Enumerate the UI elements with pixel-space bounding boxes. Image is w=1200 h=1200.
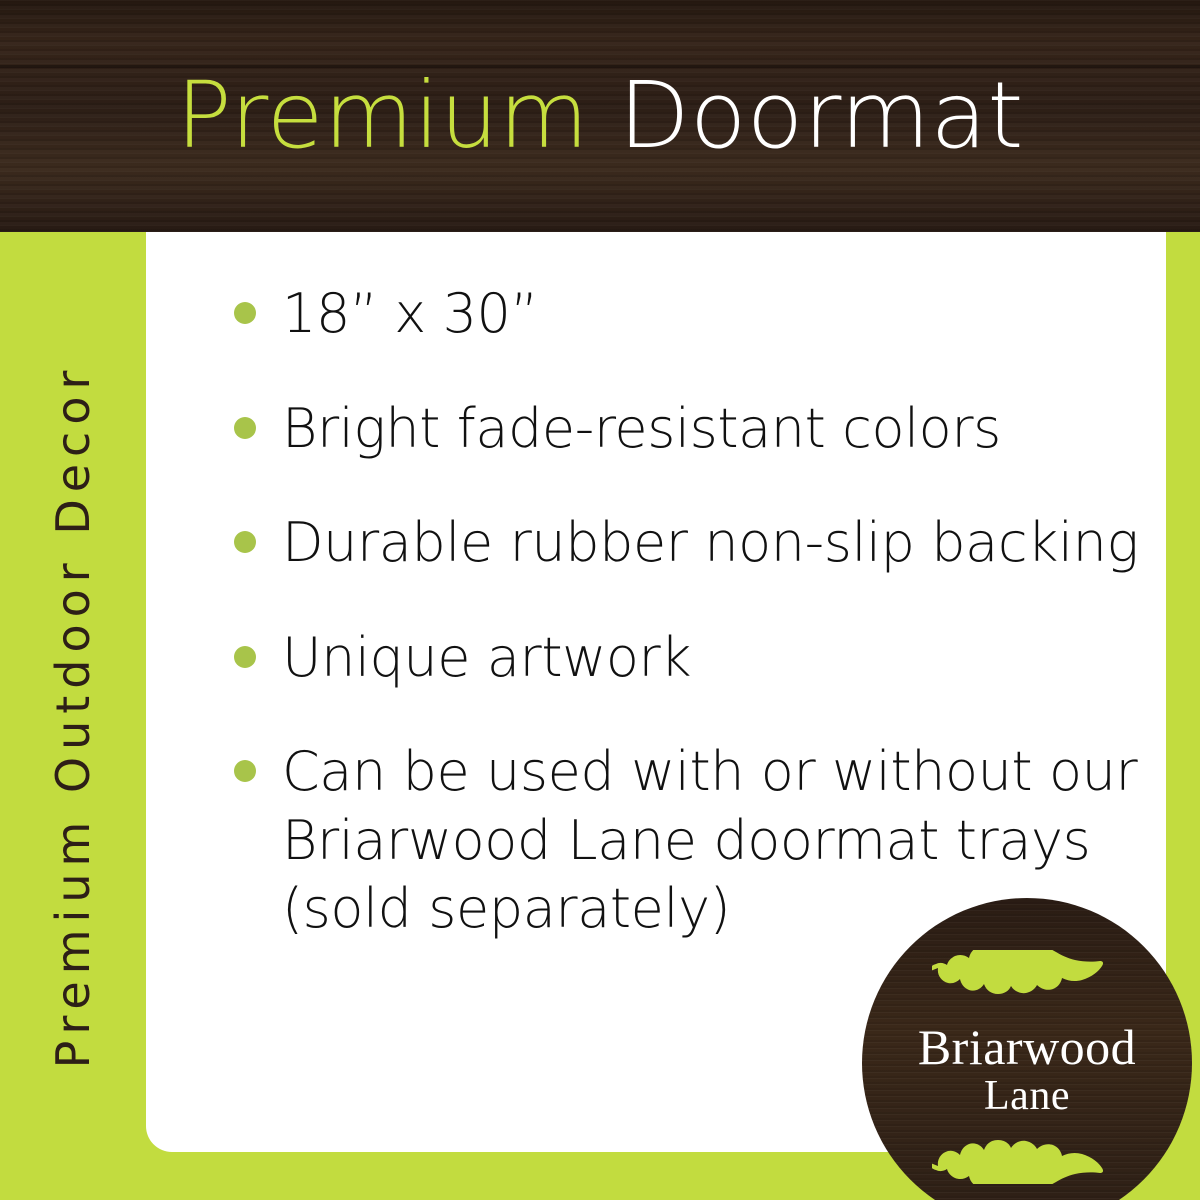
oak-leaf-icon — [932, 950, 1122, 1012]
bullet-dot-icon — [234, 302, 256, 324]
list-item-text: Bright fade-resistant colors — [282, 397, 1001, 460]
list-item-text: Unique artwork — [282, 626, 691, 689]
page-title-main: Doormat — [589, 62, 1024, 169]
bullet-dot-icon — [234, 646, 256, 668]
side-rail: Premium Outdoor Decor — [0, 232, 146, 1200]
brand-subname: Lane — [862, 1075, 1192, 1118]
brand-wordmark: Briarwood Lane — [862, 1022, 1192, 1118]
list-item-text: 18” x 30” — [282, 282, 538, 345]
bullet-dot-icon — [234, 760, 256, 782]
brand-name: Briarwood — [862, 1022, 1192, 1073]
oak-leaf-icon — [932, 1122, 1122, 1184]
list-item: 18” x 30” — [226, 280, 1146, 349]
product-feature-poster: Premium Doormat Premium Outdoor Decor 18… — [0, 0, 1200, 1200]
page-title-accent: Premium — [176, 62, 589, 169]
list-item: Bright fade-resistant colors — [226, 395, 1146, 464]
feature-list: 18” x 30” Bright fade-resistant colors D… — [226, 280, 1146, 944]
list-item: Unique artwork — [226, 624, 1146, 693]
bullet-dot-icon — [234, 417, 256, 439]
side-rail-label: Premium Outdoor Decor — [46, 364, 100, 1069]
list-item: Durable rubber non-slip backing — [226, 509, 1146, 578]
page-title: Premium Doormat — [0, 70, 1200, 162]
header-banner: Premium Doormat — [0, 0, 1200, 232]
bullet-dot-icon — [234, 531, 256, 553]
list-item-text: Durable rubber non-slip backing — [282, 511, 1138, 574]
